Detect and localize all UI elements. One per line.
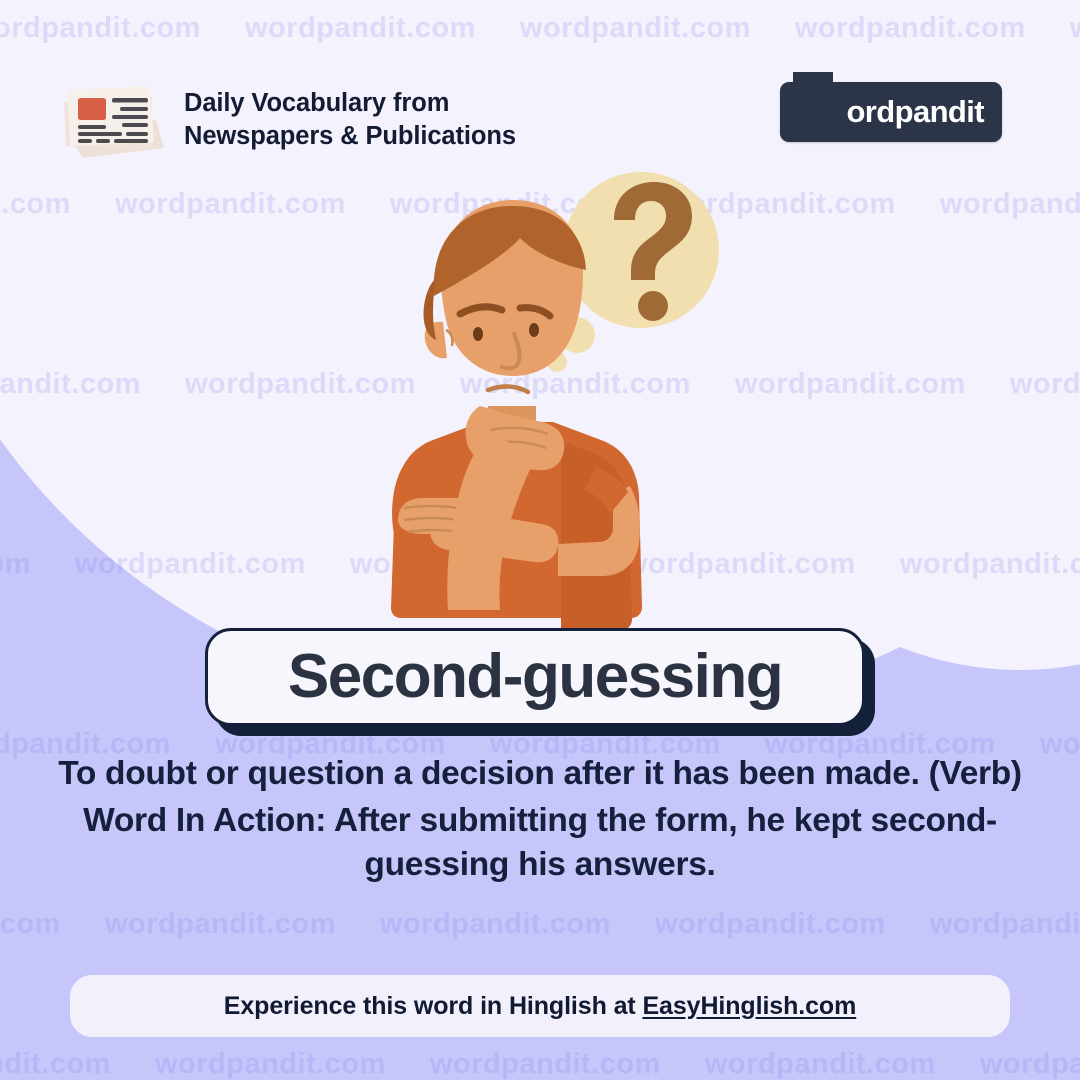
definition-text: To doubt or question a decision after it… [40,752,1040,797]
bookmark-w-icon [792,70,834,132]
word-card-body: Second-guessing [205,628,865,726]
easyhinglish-link[interactable]: EasyHinglish.com [642,992,856,1020]
example-text: Word In Action: After submitting the for… [40,799,1040,888]
brand-tagline-group: Daily Vocabulary from Newspapers & Publi… [52,72,516,168]
wordpandit-logo[interactable]: ordpandit [780,82,1002,142]
tagline-text: Daily Vocabulary from Newspapers & Publi… [184,87,516,152]
definition-block: To doubt or question a decision after it… [40,752,1040,888]
newspaper-icon [52,72,168,168]
logo-text: ordpandit [846,94,984,130]
header: Daily Vocabulary from Newspapers & Publi… [0,72,1080,168]
thinking-man-illustration [338,168,738,638]
footer-prefix: Experience this word in Hinglish at [224,992,643,1020]
word-card: Second-guessing [205,628,865,726]
footer-text: Experience this word in Hinglish at Easy… [224,992,856,1021]
vocabulary-card: wordpandit.comwordpandit.comwordpandit.c… [0,0,1080,1080]
footer-bar[interactable]: Experience this word in Hinglish at Easy… [70,975,1010,1037]
word-title: Second-guessing [288,646,782,708]
